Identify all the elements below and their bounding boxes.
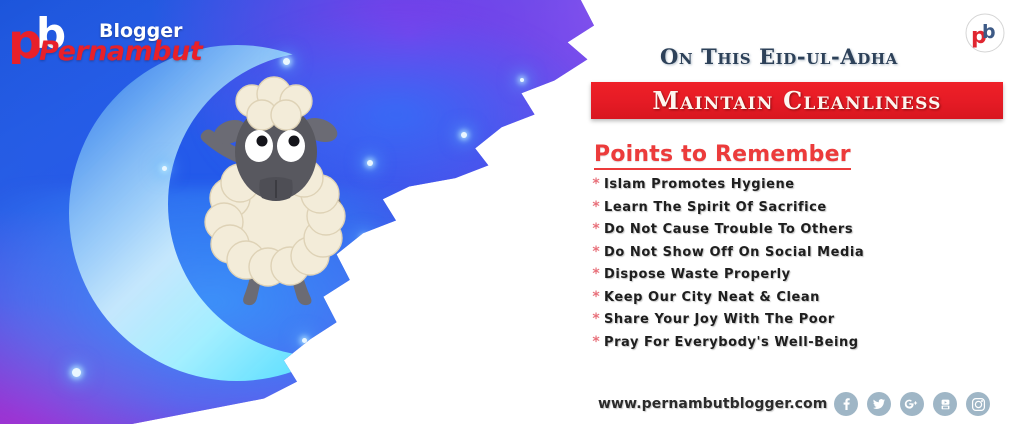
- points-list: * Islam Promotes Hygiene * Learn The Spi…: [588, 176, 1018, 356]
- list-item: * Keep Our City Neat & Clean: [588, 289, 1018, 312]
- list-item: * Pray For Everybody's Well-Being: [588, 334, 1018, 357]
- list-item: * Dispose Waste Properly: [588, 266, 1018, 289]
- youtube-glyph: [939, 398, 952, 411]
- sheep-pupil-right: [289, 136, 300, 147]
- list-item-label: Share Your Joy With The Poor: [604, 312, 835, 327]
- google-plus-icon[interactable]: [900, 392, 924, 416]
- kicker-text: On This Eid-ul-Adha: [660, 44, 898, 69]
- sheep-eye-left: [245, 130, 273, 162]
- eid-greeting-banner: p b Blogger Pernambut p b On This Eid-ul…: [0, 0, 1024, 424]
- list-item: * Learn The Spirit Of Sacrifice: [588, 199, 1018, 222]
- sheep-eye-right: [277, 130, 305, 162]
- twitter-glyph: [872, 397, 886, 411]
- instagram-icon[interactable]: [966, 392, 990, 416]
- glowing-star: [283, 58, 290, 65]
- glowing-star: [72, 368, 81, 377]
- artwork-panel: p b Blogger Pernambut: [0, 0, 660, 424]
- glowing-star: [162, 166, 167, 171]
- message-panel: On This Eid-ul-Adha Maintain Cleanliness…: [588, 0, 1024, 424]
- asterisk-icon: *: [588, 311, 604, 327]
- website-url[interactable]: www.pernambutblogger.com: [598, 396, 827, 412]
- twitter-icon[interactable]: [867, 392, 891, 416]
- facebook-icon[interactable]: [834, 392, 858, 416]
- google-plus-glyph: [904, 398, 920, 410]
- list-item-label: Keep Our City Neat & Clean: [604, 290, 820, 305]
- glowing-star: [302, 338, 307, 343]
- asterisk-icon: *: [588, 221, 604, 237]
- list-item-label: Do Not Cause Trouble To Others: [604, 222, 853, 237]
- asterisk-icon: *: [588, 176, 604, 192]
- list-item: * Islam Promotes Hygiene: [588, 176, 1018, 199]
- logo-pernambut-text: Pernambut: [39, 36, 202, 67]
- pernambut-blogger-logo[interactable]: p b Blogger Pernambut: [6, 8, 196, 66]
- glowing-star: [461, 132, 467, 138]
- headline-text: Maintain Cleanliness: [652, 86, 941, 115]
- glowing-star: [367, 160, 373, 166]
- headline-banner: Maintain Cleanliness: [591, 82, 1003, 119]
- social-links: [834, 392, 990, 416]
- list-item: * Do Not Cause Trouble To Others: [588, 221, 1018, 244]
- list-item-label: Islam Promotes Hygiene: [604, 177, 795, 192]
- points-title: Points to Remember: [594, 142, 851, 170]
- facebook-glyph: [839, 397, 853, 411]
- sheep-pupil-left: [257, 136, 268, 147]
- list-item: * Do Not Show Off On Social Media: [588, 244, 1018, 267]
- list-item-label: Do Not Show Off On Social Media: [604, 245, 864, 260]
- list-item: * Share Your Joy With The Poor: [588, 311, 1018, 334]
- asterisk-icon: *: [588, 266, 604, 282]
- glowing-star: [520, 78, 524, 82]
- asterisk-icon: *: [588, 289, 604, 305]
- list-item-label: Pray For Everybody's Well-Being: [604, 335, 859, 350]
- cartoon-sheep: [190, 70, 365, 315]
- list-item-label: Learn The Spirit Of Sacrifice: [604, 200, 827, 215]
- youtube-icon[interactable]: [933, 392, 957, 416]
- asterisk-icon: *: [588, 334, 604, 350]
- asterisk-icon: *: [588, 199, 604, 215]
- glowing-star: [467, 271, 472, 276]
- instagram-glyph: [971, 397, 986, 412]
- glowing-star: [362, 236, 367, 241]
- asterisk-icon: *: [588, 244, 604, 260]
- list-item-label: Dispose Waste Properly: [604, 267, 791, 282]
